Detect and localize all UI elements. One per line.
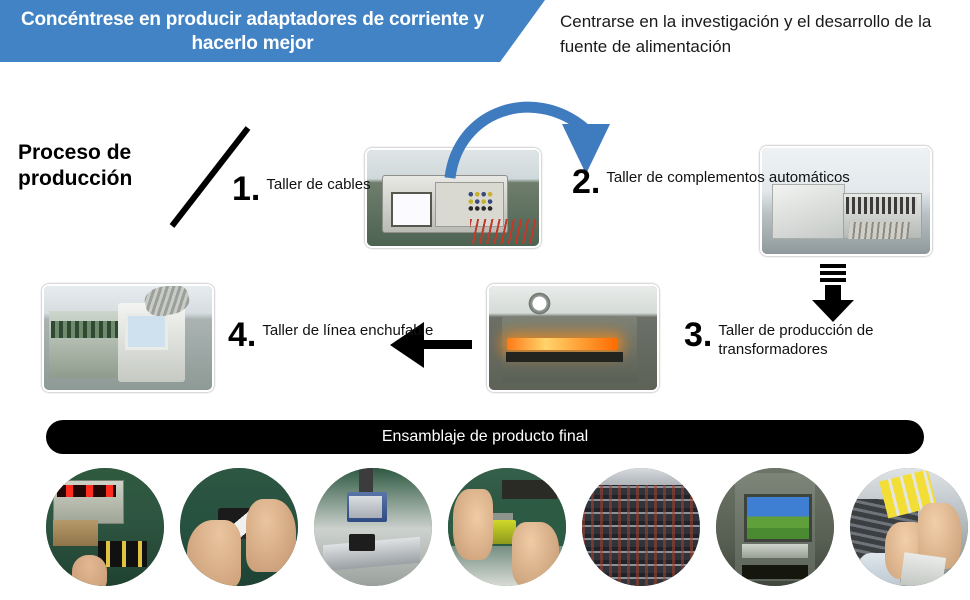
plug-in-line-machine-image [44, 286, 212, 390]
power-supply-testing-bench-image [46, 468, 164, 586]
assembly-photo-strip [0, 468, 970, 586]
automatic-insertion-machines-image [762, 148, 930, 254]
photo-step-3 [487, 284, 659, 392]
step-1: 1. Taller de cables [232, 172, 371, 206]
conveyor-belt [51, 321, 122, 338]
header-banner-title: Concéntrese en producir adaptadores de c… [0, 8, 505, 56]
workpiece [349, 534, 375, 551]
tester-knobs [467, 190, 499, 211]
component-reels [846, 197, 917, 214]
work-block [53, 520, 98, 546]
left-hand [453, 489, 493, 560]
right-hand [246, 499, 296, 572]
operator-hand [72, 555, 107, 586]
rack-header [582, 468, 700, 485]
header-secondary-text: Centrarse en la investigación y el desar… [560, 9, 960, 59]
oven-opening [506, 352, 624, 362]
test-cables [470, 219, 535, 244]
assembly-photo-1 [46, 468, 164, 586]
parts-tray [848, 222, 910, 239]
step-4-number: 4. [228, 318, 256, 352]
step-1-label: Taller de cables [266, 172, 370, 194]
labelling-and-packing-image [850, 468, 968, 586]
hands-assembling-plug-image [180, 468, 298, 586]
step-4-label: Taller de línea enchufable [262, 318, 433, 340]
header: Concéntrese en producir adaptadores de c… [0, 0, 970, 70]
step-2: 2. Taller de complementos automáticos [572, 165, 850, 199]
oven-fan [526, 292, 553, 315]
step-4: 4. Taller de línea enchufable [228, 318, 433, 352]
monitor-test-station-image [716, 468, 834, 586]
assembly-photo-7 [850, 468, 968, 586]
paper-sheet [900, 553, 947, 586]
hands-quality-check-image [448, 468, 566, 586]
step-3: 3. Taller de producción de transformador… [684, 318, 970, 359]
cabinet-slot [742, 565, 808, 579]
step-3-label: Taller de producción de transformadores [718, 318, 970, 359]
step-2-number: 2. [572, 165, 600, 199]
pneumatic-press-station-image [314, 468, 432, 586]
rack-units [582, 485, 700, 586]
step-3-number: 3. [684, 318, 712, 352]
assembly-section-bar: Ensamblaje de producto final [46, 420, 924, 454]
infographic-canvas: Concéntrese en producir adaptadores de c… [0, 0, 970, 600]
right-hand [512, 522, 559, 586]
assembly-photo-5 [582, 468, 700, 586]
control-panel [742, 544, 808, 558]
photo-step-2 [760, 146, 932, 256]
step-2-label: Taller de complementos automáticos [606, 165, 849, 187]
reflow-oven-image [489, 286, 657, 390]
tester-screen [391, 192, 432, 227]
control-monitor [125, 313, 168, 350]
aging-test-rack-image [582, 468, 700, 586]
assembly-photo-2 [180, 468, 298, 586]
assembly-photo-6 [716, 468, 834, 586]
photo-step-4 [42, 284, 214, 392]
assembly-photo-4 [448, 468, 566, 586]
down-arrow-icon [800, 262, 866, 324]
oven-heating-element [507, 338, 618, 350]
press-plate [349, 496, 382, 517]
assembly-section-label: Ensamblaje de producto final [46, 420, 924, 454]
step-1-number: 1. [232, 172, 260, 206]
led-display [57, 485, 116, 498]
crt-monitor-screen [744, 494, 811, 542]
left-hand [187, 520, 241, 586]
assembly-photo-3 [314, 468, 432, 586]
